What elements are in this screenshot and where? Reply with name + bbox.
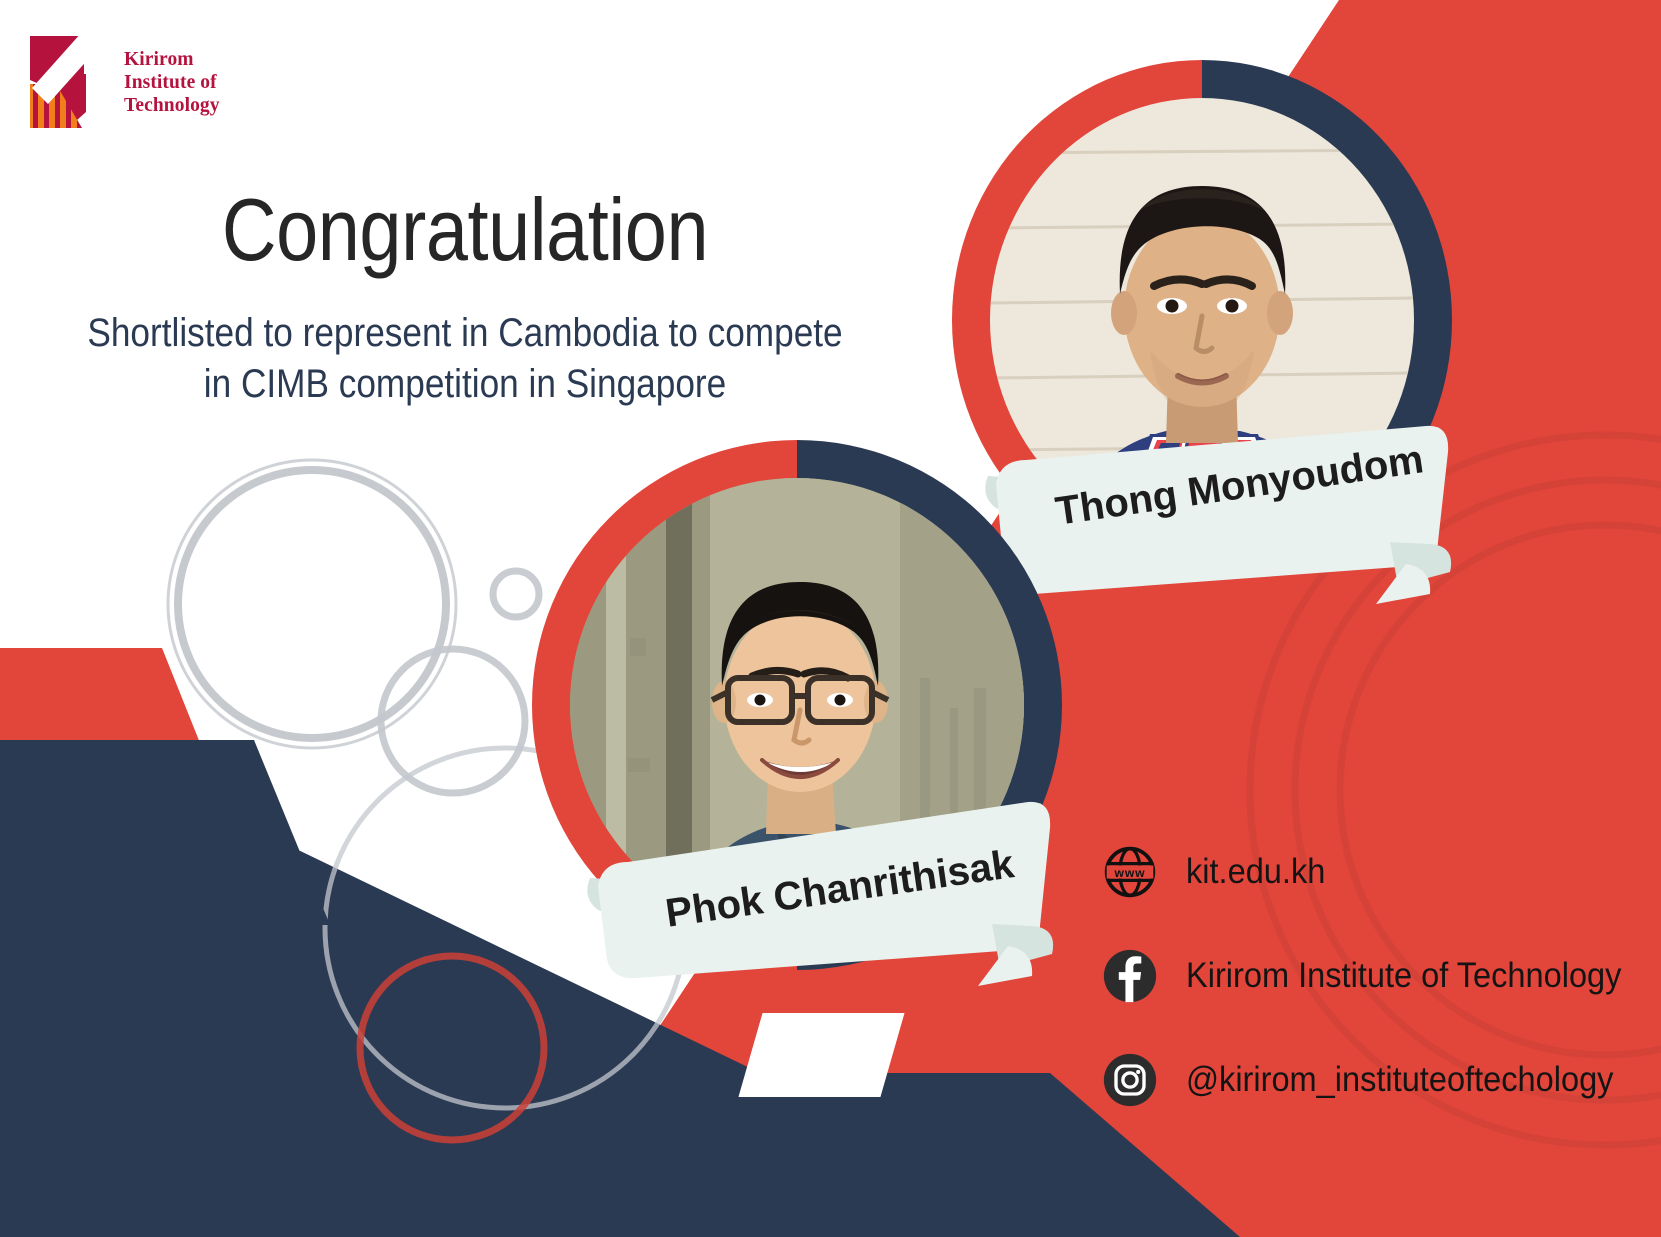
brand-name-line-3: Technology: [124, 94, 220, 117]
facebook-icon: [1100, 946, 1160, 1006]
contact-row-facebook[interactable]: Kirirom Institute of Technology: [1100, 924, 1660, 1028]
poster-canvas: Kirirom Institute of Technology Congratu…: [0, 0, 1661, 1237]
brand-name-line-2: Institute of: [124, 71, 220, 94]
contact-label-website: kit.edu.kh: [1186, 852, 1325, 892]
brand-name-line-1: Kirirom: [124, 48, 220, 71]
kit-logo-mark: [22, 32, 116, 132]
headline-block: Congratulation Shortlisted to represent …: [0, 186, 930, 410]
brand-logo: Kirirom Institute of Technology: [22, 22, 262, 142]
page-title: Congratulation: [65, 186, 865, 274]
globe-www-icon: www: [1100, 842, 1160, 902]
contact-list: www kit.edu.kh Kirirom Institute of Tech…: [1100, 820, 1660, 1132]
instagram-icon: [1100, 1050, 1160, 1110]
page-subtitle: Shortlisted to represent in Cambodia to …: [56, 308, 874, 410]
subtitle-line-2: in CIMB competition in Singapore: [56, 359, 874, 410]
svg-text:www: www: [1113, 866, 1145, 880]
contact-row-website[interactable]: www kit.edu.kh: [1100, 820, 1660, 924]
brand-logo-text: Kirirom Institute of Technology: [124, 48, 220, 117]
contact-label-facebook: Kirirom Institute of Technology: [1186, 956, 1621, 996]
contact-label-instagram: @kirirom_instituteoftechology: [1186, 1060, 1613, 1100]
contact-row-instagram[interactable]: @kirirom_instituteoftechology: [1100, 1028, 1660, 1132]
name-ribbon-phok-chanrithisak: Phok Chanrithisak: [584, 786, 1054, 981]
subtitle-line-1: Shortlisted to represent in Cambodia to …: [56, 308, 874, 359]
